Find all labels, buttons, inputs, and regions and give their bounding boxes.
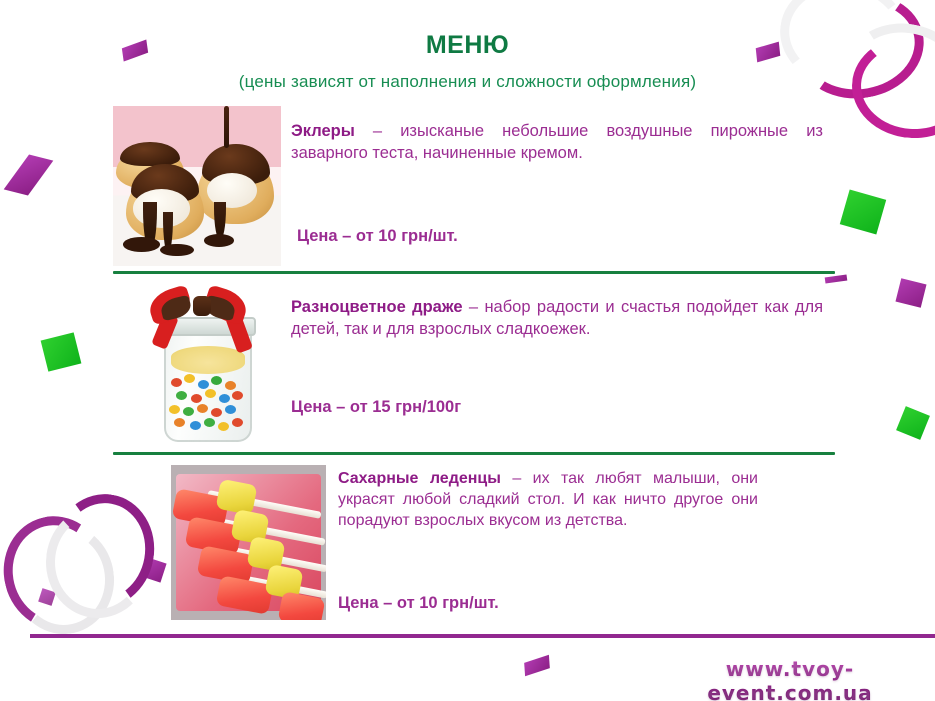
rock-candy-photo [171,465,326,620]
item-name: Эклеры [291,122,355,140]
ribbon-bow-icon [153,288,253,354]
confetti-green-icon [896,406,930,440]
page-title: МЕНЮ [0,31,935,60]
item-price: Цена – от 10 грн/шт. [297,226,458,248]
page-subtitle: (цены зависят от наполнения и сложности … [0,72,935,92]
item-price: Цена – от 15 грн/100г [291,397,461,419]
item-description-text: изысканые небольшие воздушные пирожные и… [291,122,823,162]
eclairs-photo [113,106,281,266]
slide-root: МЕНЮ (цены зависят от наполнения и сложн… [0,0,935,701]
item-dash: – [373,122,382,140]
item-name: Разноцветное драже [291,298,463,316]
confetti-purple-icon [4,155,54,196]
footer-rule [30,634,935,638]
ribbon-streamer-bottom-left-icon [0,486,173,646]
separator-rule [113,271,835,274]
item-name: Сахарные леденцы [338,470,501,487]
item-description: Разноцветное драже – набор радости и сча… [291,297,823,341]
item-price: Цена – от 10 грн/шт. [338,593,499,615]
candy-jar-photo [136,281,276,445]
item-description: Эклеры – изысканые небольшие воздушные п… [291,121,823,165]
item-dash: – [469,298,478,316]
confetti-green-icon [41,332,82,371]
confetti-purple-icon [895,278,926,308]
item-dash: – [512,470,521,487]
footer-website-url[interactable]: www.tvoy-event.com.ua [655,657,925,701]
confetti-purple-icon [825,274,848,283]
separator-rule [113,452,835,455]
item-description: Сахарные леденцы – их так любят малыши, … [338,468,758,531]
confetti-purple-icon [524,655,550,676]
ribbon-streamer-top-right-icon [770,0,935,120]
confetti-green-icon [840,189,886,234]
